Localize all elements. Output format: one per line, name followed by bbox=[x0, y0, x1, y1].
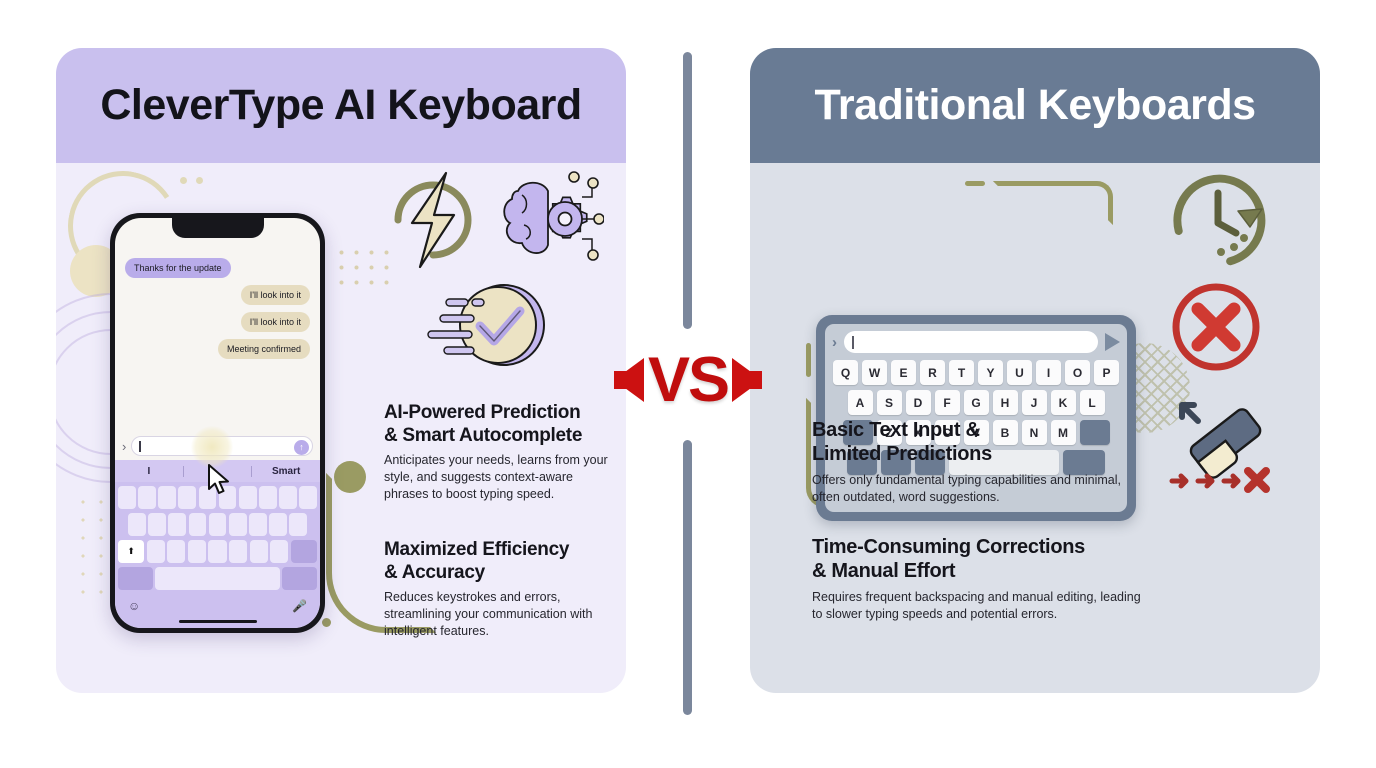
suggestion-item-1[interactable]: I bbox=[115, 466, 183, 477]
key[interactable] bbox=[168, 513, 186, 536]
keyboard-row-1: Q W E R T Y U I O P bbox=[832, 360, 1120, 385]
decor-dash-left bbox=[806, 343, 811, 377]
send-arrow-icon[interactable] bbox=[1105, 333, 1120, 351]
comparison-infographic: CleverType AI Keyboard Thanks for the bbox=[0, 0, 1376, 768]
right-comparison-card: Traditional Keyboards › bbox=[750, 48, 1320, 693]
left-feature-1-body: Anticipates your needs, learns from your… bbox=[384, 452, 609, 503]
vs-badge: VS bbox=[586, 345, 790, 415]
text-caret bbox=[852, 336, 854, 349]
keyboard-row bbox=[118, 567, 317, 590]
decor-circle-olive bbox=[334, 461, 366, 493]
key[interactable] bbox=[279, 486, 297, 509]
arrow-left-icon bbox=[614, 358, 644, 402]
key[interactable] bbox=[249, 513, 267, 536]
speed-checkmark-icon bbox=[426, 273, 556, 378]
chat-bubble: I'll look into it bbox=[241, 312, 310, 332]
key-h[interactable]: H bbox=[993, 390, 1018, 415]
key-s[interactable]: S bbox=[877, 390, 902, 415]
key[interactable] bbox=[158, 486, 176, 509]
key[interactable] bbox=[259, 486, 277, 509]
key[interactable] bbox=[229, 540, 247, 563]
key[interactable] bbox=[239, 486, 257, 509]
key-k[interactable]: K bbox=[1051, 390, 1076, 415]
tap-glow-effect bbox=[191, 426, 233, 468]
microphone-icon[interactable]: 🎤 bbox=[292, 599, 307, 613]
key[interactable] bbox=[188, 540, 206, 563]
key-j[interactable]: J bbox=[1022, 390, 1047, 415]
right-feature-1: Basic Text Input & Limited Predictions O… bbox=[812, 418, 1142, 506]
left-comparison-card: CleverType AI Keyboard Thanks for the bbox=[56, 48, 626, 693]
right-card-title: Traditional Keyboards bbox=[750, 48, 1320, 163]
chat-bubble: I'll look into it bbox=[241, 285, 310, 305]
key-a[interactable]: A bbox=[848, 390, 873, 415]
lightning-bolt-icon bbox=[378, 165, 488, 275]
left-card-title: CleverType AI Keyboard bbox=[56, 48, 626, 163]
key-u[interactable]: U bbox=[1007, 360, 1032, 385]
phone-screen: Thanks for the update I'll look into it … bbox=[115, 218, 320, 628]
chat-bubble: Meeting confirmed bbox=[218, 339, 310, 359]
key[interactable] bbox=[269, 513, 287, 536]
key[interactable] bbox=[147, 540, 165, 563]
key[interactable] bbox=[128, 513, 146, 536]
suggestion-item-3[interactable]: Smart bbox=[252, 466, 320, 477]
key-g[interactable]: G bbox=[964, 390, 989, 415]
ai-brain-chip-icon bbox=[494, 169, 604, 269]
eraser-backspace-icon bbox=[1168, 399, 1278, 499]
space-key[interactable] bbox=[155, 567, 280, 590]
decor-dot-a bbox=[180, 177, 187, 184]
right-feature-2-body: Requires frequent backspacing and manual… bbox=[812, 589, 1142, 623]
text-caret bbox=[139, 441, 141, 452]
decor-bracket-top bbox=[993, 181, 1113, 225]
return-key[interactable] bbox=[282, 567, 317, 590]
key[interactable] bbox=[250, 540, 268, 563]
chevron-right-icon: › bbox=[122, 439, 126, 454]
key[interactable] bbox=[148, 513, 166, 536]
decor-dash bbox=[965, 181, 985, 186]
key-y[interactable]: Y bbox=[978, 360, 1003, 385]
mode-key[interactable] bbox=[118, 567, 153, 590]
error-circle-x-icon bbox=[1168, 279, 1264, 375]
keyboard-row-2: A S D F G H J K L bbox=[832, 390, 1120, 415]
mouse-cursor-icon bbox=[207, 464, 233, 496]
left-feature-1-heading: AI-Powered Prediction & Smart Autocomple… bbox=[384, 401, 609, 447]
keyboard-input-bar: › bbox=[832, 331, 1120, 353]
send-arrow-icon[interactable]: ↑ bbox=[294, 440, 309, 455]
keyboard-row bbox=[118, 513, 317, 536]
home-indicator bbox=[179, 620, 257, 624]
key[interactable] bbox=[270, 540, 288, 563]
backspace-key[interactable] bbox=[291, 540, 317, 563]
ai-keyboard: ⬆ ☺ bbox=[115, 482, 320, 628]
key-w[interactable]: W bbox=[862, 360, 887, 385]
phone-notch bbox=[172, 218, 264, 238]
left-card-body: Thanks for the update I'll look into it … bbox=[56, 163, 626, 693]
center-divider-bottom bbox=[683, 440, 692, 715]
key[interactable] bbox=[118, 486, 136, 509]
center-divider-top bbox=[683, 52, 692, 329]
key-i[interactable]: I bbox=[1036, 360, 1061, 385]
chat-bubble: Thanks for the update bbox=[125, 258, 231, 278]
right-feature-2: Time-Consuming Corrections & Manual Effo… bbox=[812, 535, 1142, 623]
chat-thread: Thanks for the update I'll look into it … bbox=[115, 218, 320, 363]
right-card-body: › Q W E R T Y U I bbox=[750, 163, 1320, 693]
keyboard-row: ⬆ bbox=[118, 540, 317, 563]
key[interactable] bbox=[299, 486, 317, 509]
decor-dot-b bbox=[196, 177, 203, 184]
key[interactable] bbox=[138, 486, 156, 509]
key-r[interactable]: R bbox=[920, 360, 945, 385]
left-feature-2: Maximized Efficiency & Accuracy Reduces … bbox=[384, 538, 609, 640]
phone-mockup: Thanks for the update I'll look into it … bbox=[110, 213, 325, 633]
key[interactable] bbox=[167, 540, 185, 563]
emoji-icon[interactable]: ☺ bbox=[128, 599, 140, 613]
key[interactable] bbox=[208, 540, 226, 563]
key-d[interactable]: D bbox=[906, 390, 931, 415]
shift-arrow-icon[interactable]: ⬆ bbox=[118, 540, 144, 563]
right-feature-2-heading: Time-Consuming Corrections & Manual Effo… bbox=[812, 535, 1142, 584]
right-feature-1-heading: Basic Text Input & Limited Predictions bbox=[812, 418, 1142, 467]
key-t[interactable]: T bbox=[949, 360, 974, 385]
key-l[interactable]: L bbox=[1080, 390, 1105, 415]
key[interactable] bbox=[189, 513, 207, 536]
key[interactable] bbox=[289, 513, 307, 536]
chevron-right-icon: › bbox=[832, 334, 837, 351]
key-f[interactable]: F bbox=[935, 390, 960, 415]
key-p[interactable]: P bbox=[1094, 360, 1119, 385]
key-q[interactable]: Q bbox=[833, 360, 858, 385]
left-feature-1: AI-Powered Prediction & Smart Autocomple… bbox=[384, 401, 609, 503]
key[interactable] bbox=[229, 513, 247, 536]
arrow-right-icon bbox=[732, 358, 762, 402]
key[interactable] bbox=[209, 513, 227, 536]
right-feature-1-body: Offers only fundamental typing capabilit… bbox=[812, 472, 1142, 506]
suggestion-divider bbox=[183, 466, 184, 477]
key-e[interactable]: E bbox=[891, 360, 916, 385]
left-feature-2-body: Reduces keystrokes and errors, streamlin… bbox=[384, 589, 609, 640]
clock-arrow-icon bbox=[1158, 167, 1278, 277]
key-o[interactable]: O bbox=[1065, 360, 1090, 385]
decor-dot-d bbox=[322, 618, 331, 627]
vs-label: VS bbox=[648, 349, 728, 412]
keyboard-text-field[interactable] bbox=[844, 331, 1098, 353]
left-feature-2-heading: Maximized Efficiency & Accuracy bbox=[384, 538, 609, 584]
keyboard-bottom-bar: ☺ 🎤 bbox=[118, 594, 317, 613]
key[interactable] bbox=[178, 486, 196, 509]
